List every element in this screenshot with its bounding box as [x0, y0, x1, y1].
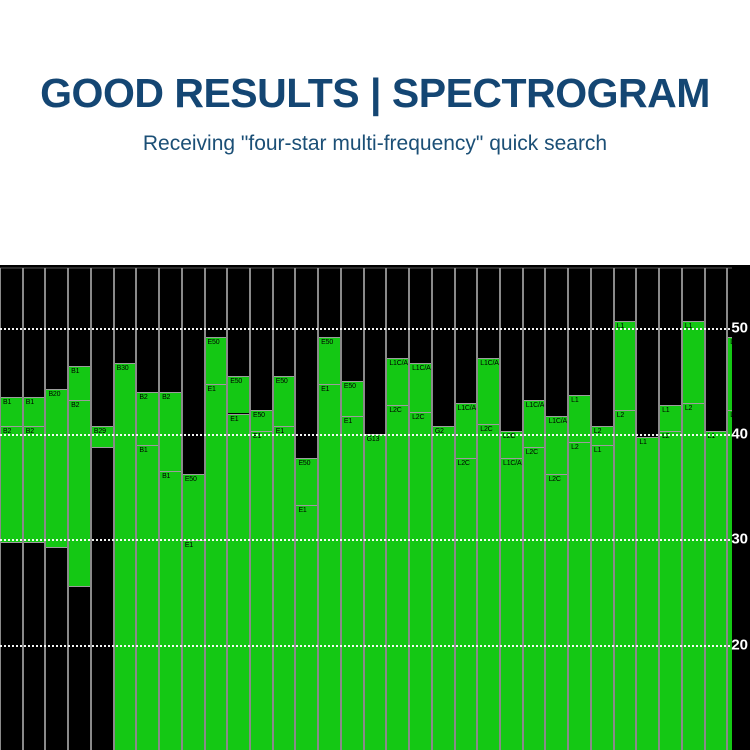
y-axis-tick-label: 40: [731, 425, 748, 442]
y-axis-tick-label: 20: [731, 636, 748, 653]
y-axis-tick-label: 30: [731, 531, 748, 548]
header: GOOD RESULTS | SPECTROGRAM Receiving "fo…: [0, 0, 750, 265]
page-subtitle: Receiving "four-star multi-frequency" qu…: [0, 115, 750, 156]
spectrogram-chart[interactable]: B1B2B1B2B20B1B2B29B30B2B1B2B1E50E1E50E1E…: [0, 265, 750, 750]
spectrogram-page: GOOD RESULTS | SPECTROGRAM Receiving "fo…: [0, 0, 750, 750]
plot-area: B1B2B1B2B20B1B2B29B30B2B1B2B1E50E1E50E1E…: [0, 265, 750, 750]
y-axis-labels: 20304050: [0, 265, 750, 750]
y-axis-tick-label: 50: [731, 320, 748, 337]
page-title: GOOD RESULTS | SPECTROGRAM: [0, 0, 750, 115]
